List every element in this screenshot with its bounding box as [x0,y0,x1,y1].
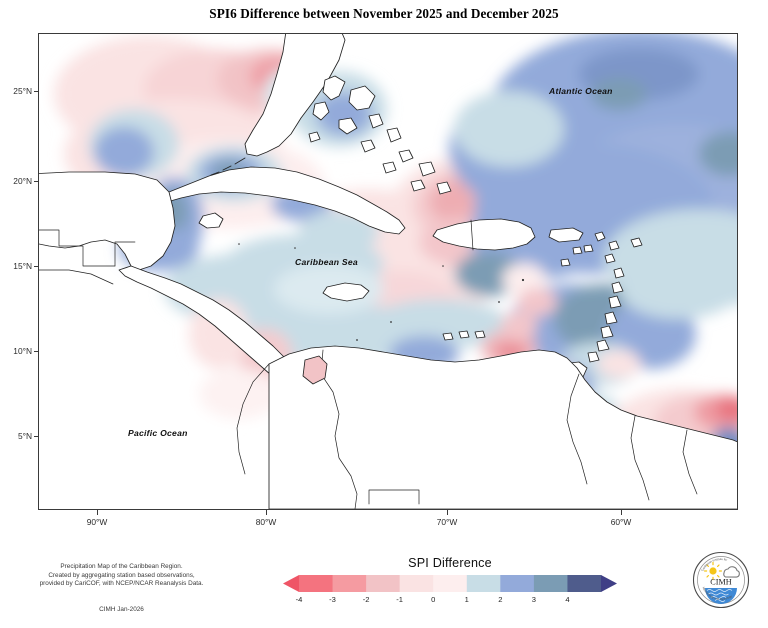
colorbar-tick-label: 3 [524,595,544,604]
colorbar-tick-label: -2 [356,595,376,604]
x-axis-tick [97,510,98,515]
y-axis-tick-label: 5°N [2,431,32,441]
colorbar-tick-label: 0 [423,595,443,604]
colorbar-tick-label: -1 [390,595,410,604]
colorbar-segment[interactable] [366,575,400,592]
y-axis-tick [34,91,39,92]
colorbar-title: SPI Difference [283,556,617,570]
colorbar-segment[interactable] [400,575,434,592]
atlantic-ocean-label: Atlantic Ocean [549,86,613,96]
y-axis-tick-label: 25°N [2,86,32,96]
credits-line-2: Created by aggregating station based obs… [14,572,229,581]
y-axis-tick [34,351,39,352]
cimh-logo: CIMH Caribbean Institute for Meteorology… [692,551,750,609]
colorbar-cap-high [601,575,617,592]
x-axis-tick [447,510,448,515]
map-canvas[interactable] [38,33,738,510]
colorbar-segment[interactable] [433,575,467,592]
credits-line-1: Precipitation Map of the Caribbean Regio… [14,563,229,572]
colorbar-tick-label: -3 [323,595,343,604]
y-axis-tick [34,266,39,267]
y-axis-tick-label: 15°N [2,261,32,271]
colorbar-segment[interactable] [500,575,534,592]
colorbar-segment[interactable] [299,575,333,592]
page-title: SPI6 Difference between November 2025 an… [0,6,768,22]
colorbar-segment[interactable] [333,575,367,592]
logo-text: CIMH [710,578,731,587]
y-axis-tick [34,436,39,437]
caribbean-sea-label: Caribbean Sea [295,257,358,267]
y-axis-tick-label: 10°N [2,346,32,356]
colorbar-segment[interactable] [534,575,568,592]
credits-block: Precipitation Map of the Caribbean Regio… [14,563,229,589]
colorbar-segment[interactable] [467,575,501,592]
credits-line-3: provided by CariCOF, with NCEP/NCAR Rean… [14,580,229,589]
x-axis-tick [621,510,622,515]
x-axis-tick-label: 90°W [77,517,117,527]
x-axis-tick-label: 70°W [427,517,467,527]
colorbar-segment[interactable] [567,575,601,592]
y-axis-tick-label: 20°N [2,176,32,186]
colorbar-tick-label: 2 [490,595,510,604]
x-axis-tick-label: 60°W [601,517,641,527]
x-axis-tick-label: 80°W [246,517,286,527]
colorbar-gradient [283,574,617,593]
colorbar-tick-label: -4 [289,595,309,604]
map-figure: SPI6 Difference between November 2025 an… [0,0,768,628]
colorbar-tick-label: 4 [557,595,577,604]
x-axis-tick [266,510,267,515]
colorbar[interactable]: SPI Difference -4-3-2-101234 [283,556,617,609]
colorbar-cap-low [283,575,299,592]
credits-date: CIMH Jan-2026 [14,606,229,613]
pacific-ocean-label: Pacific Ocean [128,428,188,438]
y-axis-tick [34,181,39,182]
colorbar-tick-label: 1 [457,595,477,604]
